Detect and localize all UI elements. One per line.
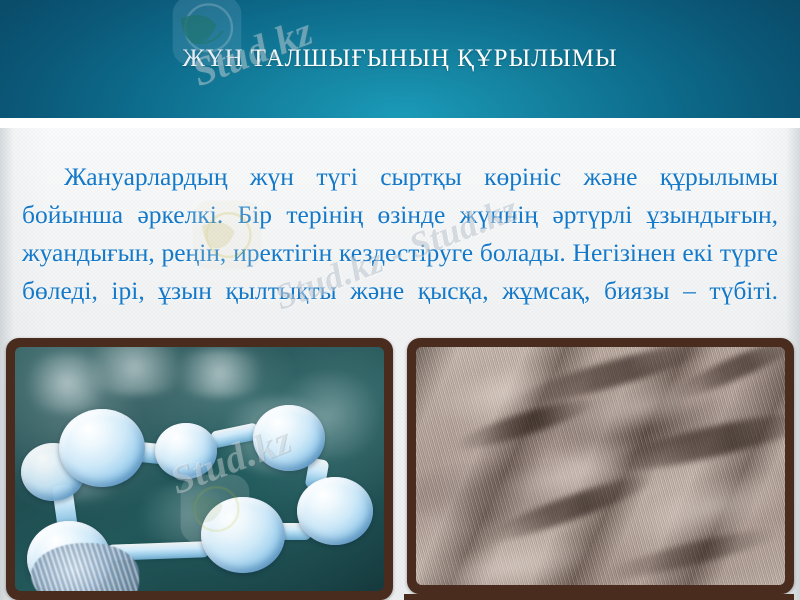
bottom-frame-strip (404, 594, 794, 600)
animal-fur-photo (416, 347, 785, 585)
presentation-slide: ЖҮН ТАЛШЫҒЫНЫҢ ҚҰРЫЛЫМЫ Жануарлардың жүн… (0, 0, 800, 600)
ice-molecule-photo (15, 347, 384, 591)
slide-title: ЖҮН ТАЛШЫҒЫНЫҢ ҚҰРЫЛЫМЫ (0, 42, 800, 76)
slide-image-row (0, 338, 800, 600)
animal-fur-photo-frame (407, 338, 794, 594)
ice-molecule-photo-frame (6, 338, 393, 600)
slide-body-text: Жануарлардың жүн түгі сыртқы көрініс жән… (22, 158, 778, 348)
